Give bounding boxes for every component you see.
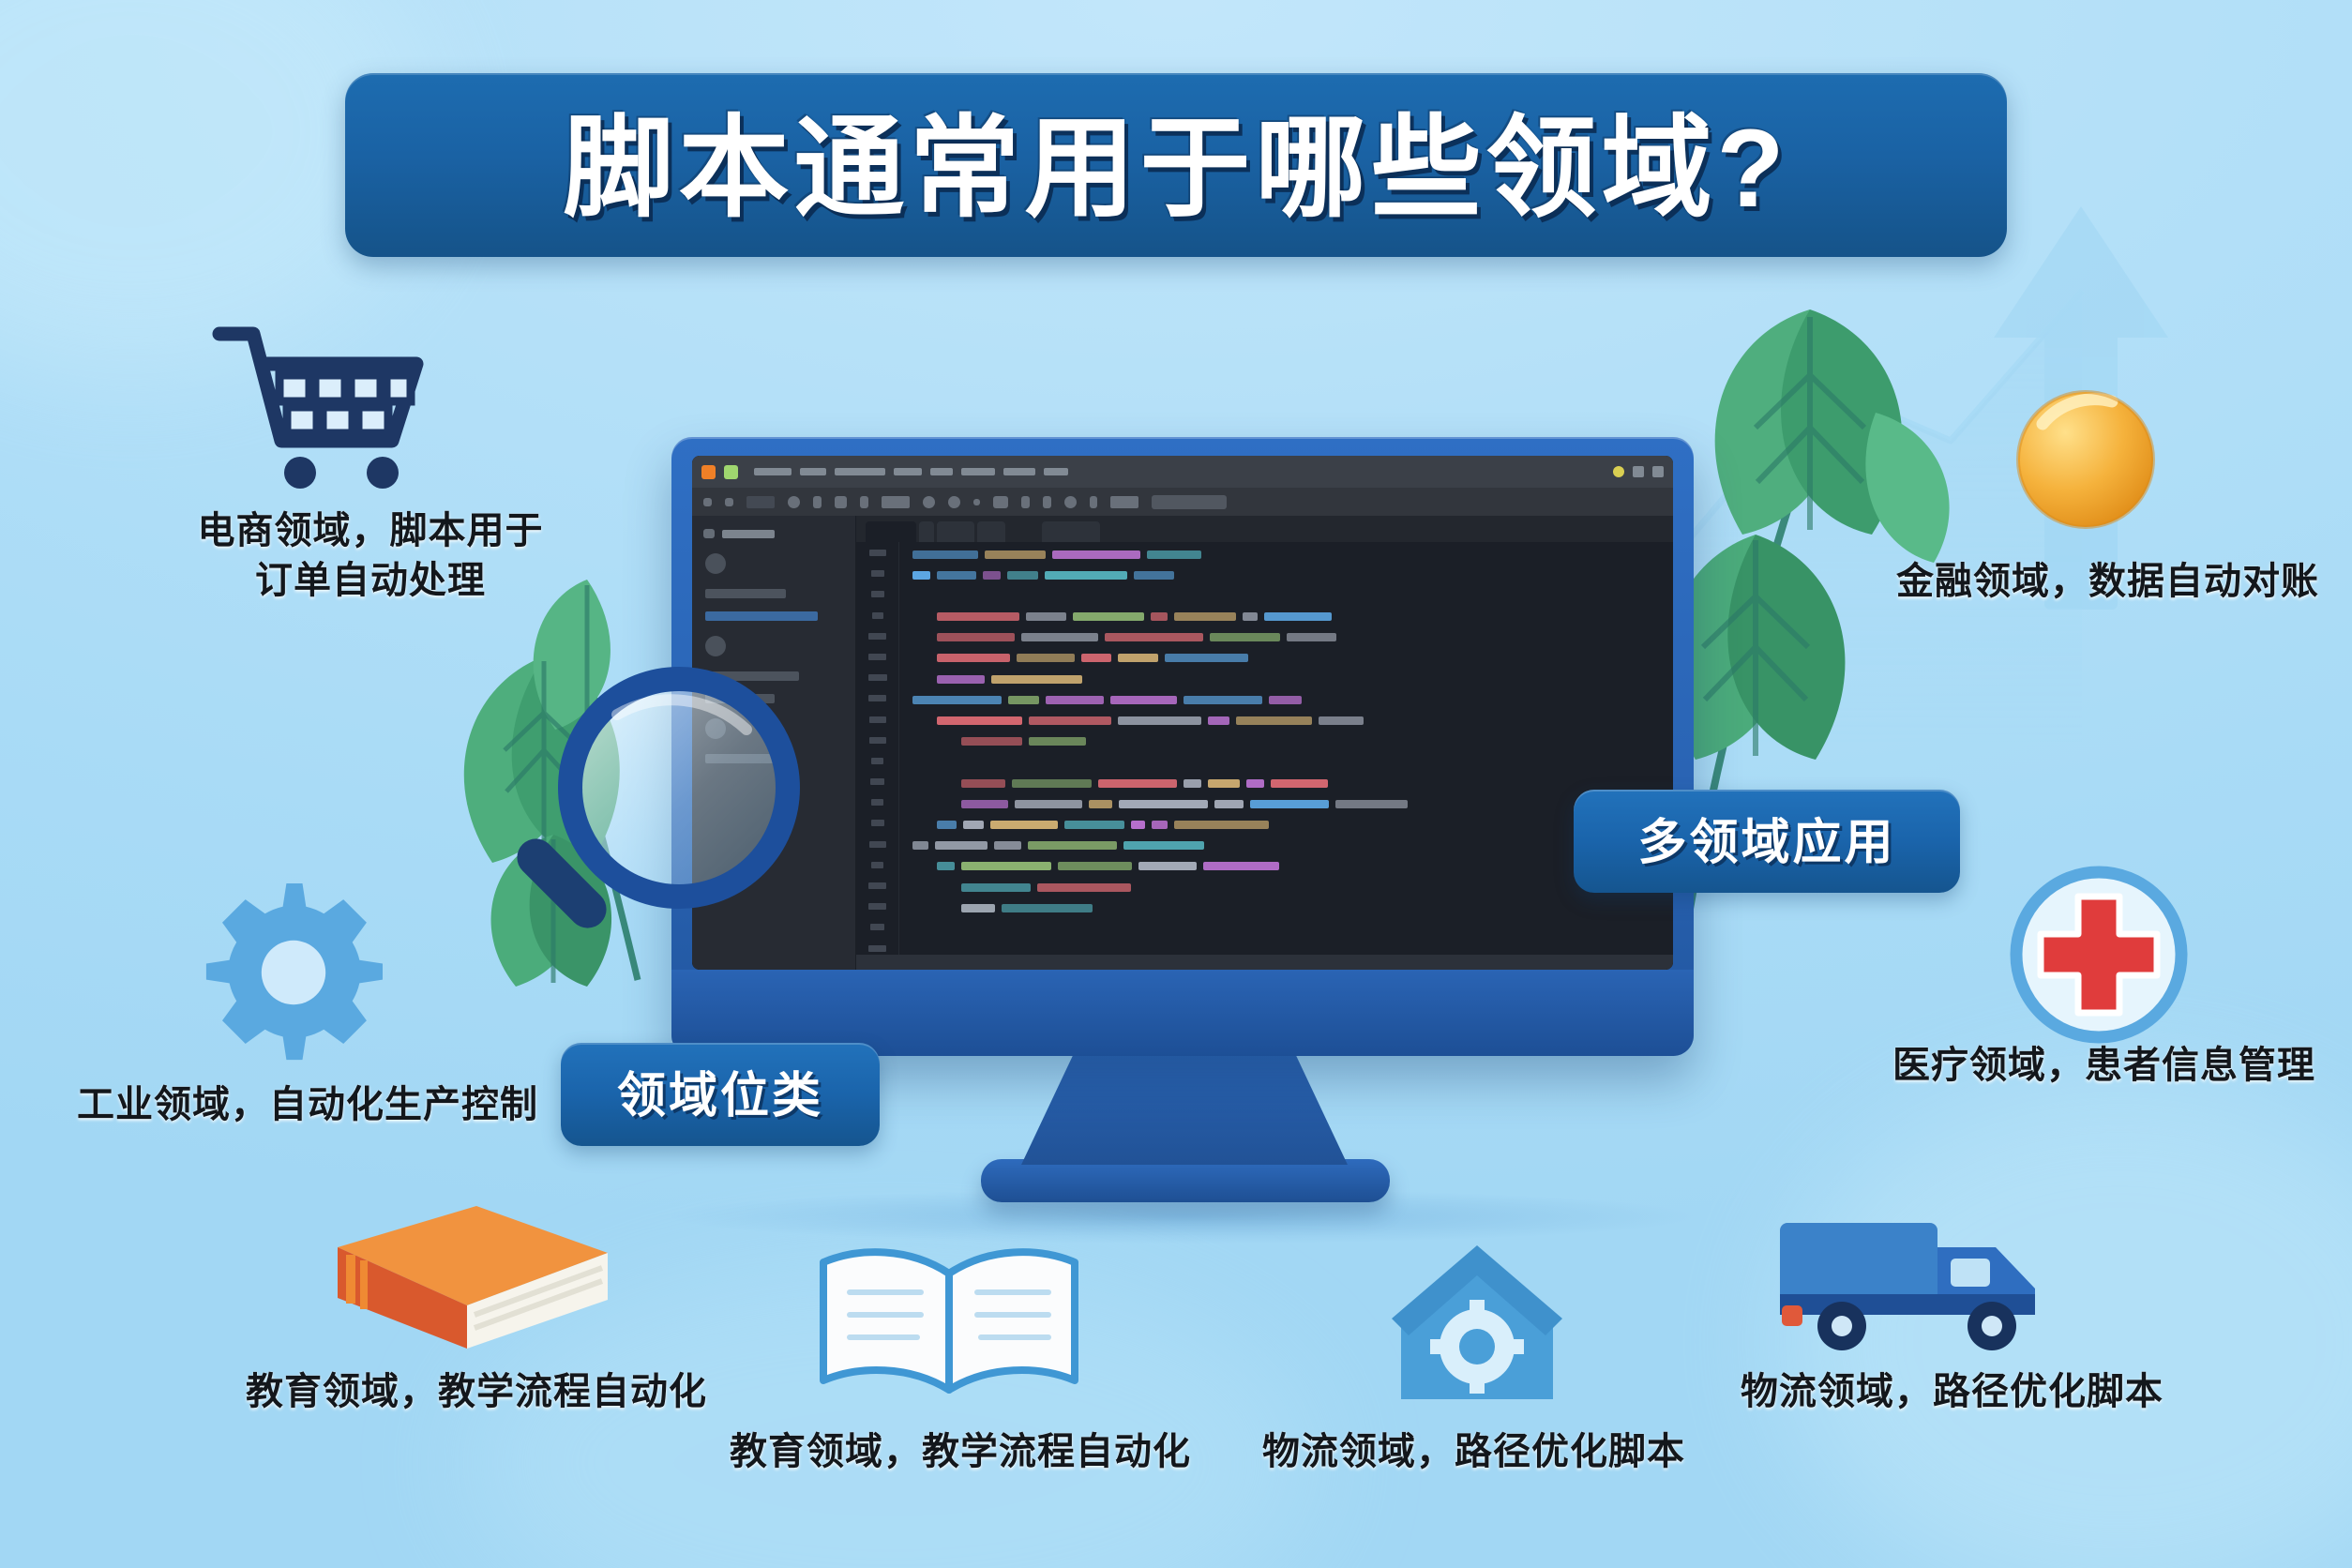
code-token bbox=[963, 821, 984, 829]
sidebar-item[interactable] bbox=[705, 671, 799, 681]
code-token bbox=[1002, 904, 1093, 912]
code-line bbox=[912, 820, 1673, 829]
code-token bbox=[937, 612, 1019, 621]
code-token bbox=[1105, 633, 1203, 641]
line-number bbox=[871, 591, 884, 597]
debug-icon[interactable] bbox=[813, 496, 822, 508]
build-icon[interactable] bbox=[860, 496, 868, 508]
code-line bbox=[912, 550, 1673, 559]
code-token bbox=[1243, 612, 1258, 621]
code-token bbox=[1064, 821, 1124, 829]
code-token bbox=[912, 696, 1002, 704]
code-token bbox=[1210, 633, 1280, 641]
page-title-banner: 脚本通常用于哪些领域? bbox=[345, 73, 2007, 257]
code-token bbox=[1037, 883, 1131, 892]
refresh-icon[interactable] bbox=[923, 496, 935, 508]
medical-cross-icon bbox=[2005, 861, 2193, 1048]
code-token bbox=[1214, 800, 1244, 808]
line-number bbox=[871, 820, 884, 826]
code-token bbox=[937, 862, 955, 870]
delivery-truck-icon bbox=[1767, 1189, 2067, 1358]
code-line bbox=[912, 924, 1673, 933]
code-token bbox=[1029, 716, 1111, 725]
code-token bbox=[912, 550, 978, 559]
code-token bbox=[1118, 716, 1201, 725]
code-line bbox=[912, 695, 1673, 704]
open-book-icon bbox=[808, 1240, 1090, 1409]
line-number bbox=[868, 903, 886, 910]
favorites-icon[interactable] bbox=[705, 636, 726, 656]
page-title: 脚本通常用于哪些领域? bbox=[563, 113, 1788, 224]
menu-item[interactable] bbox=[1044, 468, 1068, 475]
code-token bbox=[1110, 696, 1177, 704]
code-token bbox=[1045, 571, 1127, 580]
settings-icon[interactable] bbox=[948, 496, 960, 508]
line-number bbox=[871, 570, 884, 577]
code-token bbox=[1147, 550, 1201, 559]
code-token bbox=[1319, 716, 1364, 725]
menu-item[interactable] bbox=[835, 468, 885, 475]
commit-icon[interactable] bbox=[1021, 496, 1030, 508]
search-input[interactable] bbox=[1152, 495, 1227, 509]
editor-tab[interactable] bbox=[919, 521, 934, 542]
code-token bbox=[961, 779, 1005, 788]
code-token bbox=[985, 550, 1046, 559]
badge-domain-classification[interactable]: 领域位类 bbox=[561, 1043, 880, 1146]
line-number bbox=[868, 633, 886, 640]
code-token bbox=[961, 800, 1008, 808]
code-line bbox=[912, 570, 1673, 580]
code-line bbox=[912, 945, 1673, 955]
code-token bbox=[1012, 779, 1092, 788]
code-token bbox=[1028, 841, 1117, 850]
code-token bbox=[1073, 612, 1144, 621]
plus-icon[interactable] bbox=[973, 499, 980, 505]
code-line bbox=[912, 633, 1673, 642]
code-line bbox=[912, 716, 1673, 726]
code-line bbox=[912, 674, 1673, 684]
code-token bbox=[1134, 571, 1174, 580]
sidebar-item-selected[interactable] bbox=[705, 611, 818, 621]
editor-viewport[interactable] bbox=[856, 542, 1673, 955]
code-token bbox=[1208, 779, 1240, 788]
gear-icon bbox=[204, 883, 383, 1062]
code-token bbox=[961, 862, 1051, 870]
infographic-canvas: 脚本通常用于哪些领域? bbox=[0, 0, 2352, 1568]
code-token bbox=[1119, 800, 1208, 808]
titlebar-icon[interactable] bbox=[1652, 466, 1664, 477]
code-token bbox=[1017, 654, 1075, 662]
code-token bbox=[937, 821, 957, 829]
line-number bbox=[868, 945, 886, 952]
menu-item[interactable] bbox=[930, 468, 953, 475]
code-token bbox=[912, 841, 928, 850]
line-number bbox=[871, 862, 883, 868]
gold-coin-icon bbox=[2001, 373, 2170, 542]
code-token bbox=[1246, 779, 1264, 788]
code-line bbox=[912, 903, 1673, 912]
code-token bbox=[994, 841, 1021, 850]
desktop-monitor bbox=[671, 437, 1694, 1056]
code-token bbox=[961, 737, 1022, 746]
badge-label: 多领域应用 bbox=[1637, 819, 1895, 867]
editor-tab[interactable] bbox=[866, 521, 916, 542]
sidebar-item[interactable] bbox=[705, 754, 792, 763]
monitor-screen bbox=[692, 456, 1673, 970]
label-education-left: 教育领域，教学流程自动化 bbox=[246, 1367, 707, 1417]
code-token bbox=[1052, 550, 1140, 559]
badge-multi-domain-application[interactable]: 多领域应用 bbox=[1574, 790, 1960, 893]
code-token bbox=[937, 654, 1010, 662]
sidebar-item[interactable] bbox=[705, 694, 775, 703]
house-gear-icon bbox=[1388, 1238, 1566, 1416]
code-token bbox=[1335, 800, 1408, 808]
code-token bbox=[1008, 696, 1039, 704]
code-token bbox=[1184, 779, 1201, 788]
sync-icon[interactable] bbox=[1064, 496, 1077, 508]
back-icon[interactable] bbox=[703, 498, 712, 506]
monitor-base bbox=[981, 1159, 1390, 1202]
line-number bbox=[868, 882, 886, 889]
code-line bbox=[912, 799, 1673, 808]
code-token bbox=[1236, 716, 1312, 725]
line-number bbox=[868, 695, 886, 701]
editor-statusbar bbox=[856, 955, 1673, 970]
forward-icon[interactable] bbox=[725, 498, 733, 506]
menu-item[interactable] bbox=[800, 468, 826, 475]
code-token bbox=[1123, 841, 1204, 850]
code-token bbox=[1151, 612, 1168, 621]
code-token bbox=[1165, 654, 1248, 662]
editor-body bbox=[692, 516, 1673, 970]
project-icon bbox=[703, 529, 715, 538]
line-number bbox=[869, 716, 886, 723]
label-ecommerce: 电商领域，脚本用于 订单自动处理 bbox=[145, 506, 596, 606]
code-token bbox=[937, 675, 985, 684]
code-token bbox=[1264, 612, 1332, 621]
line-number bbox=[869, 737, 886, 744]
code-line bbox=[912, 612, 1673, 622]
bookmarks-icon[interactable] bbox=[705, 718, 726, 739]
code-token bbox=[937, 716, 1022, 725]
code-token bbox=[990, 821, 1058, 829]
line-number bbox=[871, 758, 883, 764]
code-token bbox=[1081, 654, 1111, 662]
code-token bbox=[961, 883, 1031, 892]
editor-tab[interactable] bbox=[977, 521, 1005, 542]
label-finance: 金融领域，数据自动对账 bbox=[1896, 557, 2319, 607]
label-logistics-right: 物流领域，路径优化脚本 bbox=[1741, 1367, 2164, 1417]
branch-icon[interactable] bbox=[1043, 496, 1051, 508]
badge-label: 领域位类 bbox=[617, 1072, 823, 1121]
code-line bbox=[912, 591, 1673, 600]
line-number bbox=[870, 778, 884, 785]
code-token bbox=[1250, 800, 1329, 808]
code-token bbox=[1015, 800, 1082, 808]
stop-icon[interactable] bbox=[835, 496, 847, 508]
code-editor-window bbox=[692, 456, 1673, 970]
project-sidebar[interactable] bbox=[692, 516, 856, 970]
shopping-cart-icon bbox=[208, 317, 443, 495]
menu-item[interactable] bbox=[894, 468, 922, 475]
code-token bbox=[1029, 737, 1086, 746]
editor-toolbar bbox=[692, 488, 1673, 516]
line-number bbox=[868, 654, 886, 660]
code-token bbox=[935, 841, 988, 850]
code-token bbox=[1098, 779, 1177, 788]
label-medical: 医疗领域，患者信息管理 bbox=[1892, 1041, 2315, 1091]
code-token bbox=[1174, 612, 1236, 621]
code-token bbox=[937, 571, 976, 580]
path-breadcrumb[interactable] bbox=[746, 496, 775, 508]
line-number bbox=[872, 612, 883, 619]
code-token bbox=[1058, 862, 1132, 870]
code-token bbox=[1089, 800, 1112, 808]
line-number bbox=[869, 841, 886, 848]
config-selector[interactable] bbox=[882, 496, 910, 508]
closed-book-icon bbox=[309, 1195, 628, 1364]
code-line bbox=[912, 841, 1673, 851]
sidebar-item[interactable] bbox=[705, 589, 786, 598]
code-token bbox=[1208, 716, 1229, 725]
menu-item[interactable] bbox=[754, 468, 792, 475]
status-indicator-icon bbox=[1613, 466, 1624, 477]
code-line bbox=[912, 882, 1673, 892]
label-logistics-center: 物流领域，路径优化脚本 bbox=[1262, 1427, 1685, 1477]
code-token bbox=[983, 571, 1001, 580]
code-line bbox=[912, 758, 1673, 767]
menu-item[interactable] bbox=[1003, 468, 1035, 475]
code-token bbox=[1152, 821, 1168, 829]
editor-main bbox=[856, 516, 1673, 970]
code-token bbox=[1118, 654, 1158, 662]
code-token bbox=[937, 633, 1015, 641]
editor-tabs bbox=[856, 516, 1673, 542]
label-education-center: 教育领域，教学流程自动化 bbox=[730, 1427, 1191, 1477]
vcs-icon[interactable] bbox=[993, 496, 1008, 508]
window-close-icon[interactable] bbox=[701, 465, 716, 479]
titlebar-icon[interactable] bbox=[1633, 466, 1644, 477]
line-number bbox=[869, 550, 886, 556]
code-token bbox=[1184, 696, 1262, 704]
code-token bbox=[1007, 571, 1038, 580]
code-token bbox=[912, 571, 930, 580]
code-token bbox=[1203, 862, 1279, 870]
code-token bbox=[1269, 696, 1302, 704]
label-industrial: 工业领域，自动化生产控制 bbox=[77, 1080, 538, 1130]
code-line bbox=[912, 862, 1673, 871]
code-token bbox=[1287, 633, 1336, 641]
code-token bbox=[1046, 696, 1104, 704]
code-token bbox=[1026, 612, 1066, 621]
code-token bbox=[1174, 821, 1269, 829]
search-field[interactable] bbox=[1110, 496, 1138, 508]
code-token bbox=[961, 904, 995, 912]
code-content[interactable] bbox=[899, 542, 1673, 955]
code-token bbox=[1131, 821, 1145, 829]
code-line bbox=[912, 737, 1673, 746]
code-line bbox=[912, 654, 1673, 663]
line-number bbox=[871, 799, 883, 806]
code-token bbox=[1021, 633, 1098, 641]
structure-icon[interactable] bbox=[705, 553, 726, 574]
editor-tab[interactable] bbox=[1042, 521, 1100, 542]
code-token bbox=[1138, 862, 1197, 870]
terminal-icon[interactable] bbox=[1090, 496, 1097, 508]
monitor-stand bbox=[1021, 1054, 1348, 1165]
line-number bbox=[870, 924, 884, 930]
code-token bbox=[1271, 779, 1328, 788]
editor-tab[interactable] bbox=[937, 521, 974, 542]
menu-item[interactable] bbox=[961, 468, 995, 475]
editor-titlebar bbox=[692, 456, 1673, 488]
line-number-gutter bbox=[856, 542, 899, 955]
code-token bbox=[991, 675, 1082, 684]
line-number bbox=[868, 674, 887, 681]
window-minimize-icon[interactable] bbox=[724, 465, 738, 479]
sidebar-title bbox=[722, 530, 775, 538]
run-icon[interactable] bbox=[788, 496, 800, 508]
code-line bbox=[912, 778, 1673, 788]
